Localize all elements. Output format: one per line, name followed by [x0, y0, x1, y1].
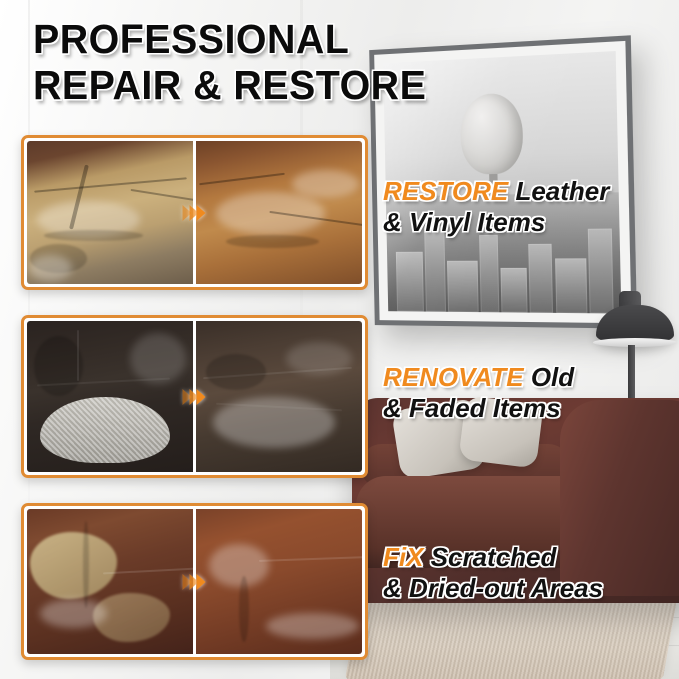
lamp-rim — [593, 338, 677, 347]
after-image-leather-sofa — [196, 141, 362, 284]
caption-restore: RESTORE Leather & Vinyl Items — [383, 176, 609, 238]
before-after-panel-fix[interactable] — [21, 503, 368, 660]
before-image-scratched-sofa — [27, 509, 193, 654]
caption-keyword: RESTORE — [383, 176, 508, 206]
before-after-panel-restore[interactable] — [21, 135, 368, 290]
before-image-armchair — [27, 321, 193, 472]
caption-restore-line-2: & Vinyl Items — [383, 207, 609, 238]
caption-fix-line-2: & Dried-out Areas — [383, 573, 603, 604]
after-image-armchair — [196, 321, 362, 472]
panel-inner — [27, 141, 362, 284]
caption-fix: FiX Scratched & Dried-out Areas — [383, 542, 603, 604]
woven-rug — [345, 598, 677, 679]
caption-rest: Leather — [508, 176, 609, 206]
caption-restore-line-1: RESTORE Leather — [383, 176, 609, 207]
caption-rest: Scratched — [423, 542, 556, 572]
headline-line-1: PROFESSIONAL — [33, 16, 609, 62]
lamp-arm — [628, 345, 635, 403]
caption-renovate-line-1: RENOVATE Old — [383, 362, 574, 393]
promo-banner: PROFESSIONAL REPAIR & RESTORE — [0, 0, 679, 679]
headline-line-2: REPAIR & RESTORE — [33, 62, 609, 108]
caption-renovate: RENOVATE Old & Faded Items — [383, 362, 574, 424]
panel-inner — [27, 321, 362, 472]
before-after-panel-renovate[interactable] — [21, 315, 368, 478]
caption-keyword: FiX — [383, 542, 423, 572]
caption-renovate-line-2: & Faded Items — [383, 393, 574, 424]
headline: PROFESSIONAL REPAIR & RESTORE — [33, 16, 633, 108]
after-image-repaired-sofa — [196, 509, 362, 654]
caption-fix-line-1: FiX Scratched — [383, 542, 603, 573]
caption-rest: Old — [524, 362, 575, 392]
before-image-leather-sofa — [27, 141, 193, 284]
panel-inner — [27, 509, 362, 654]
caption-keyword: RENOVATE — [383, 362, 524, 392]
